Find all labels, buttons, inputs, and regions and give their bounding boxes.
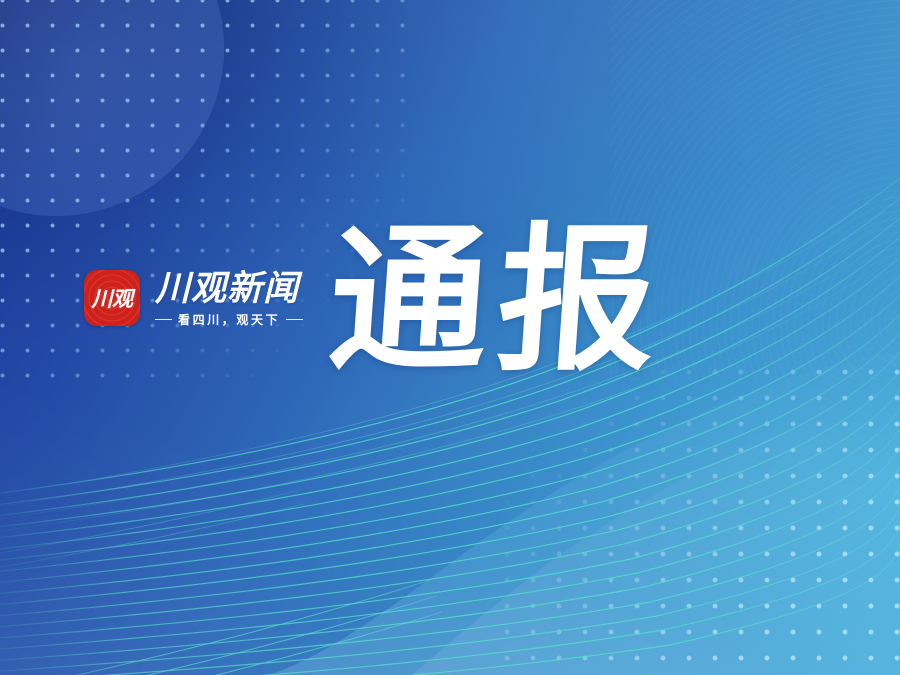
brand-lockup: 川观 川观新闻 看四川，观天下 <box>84 270 303 326</box>
banner-headline: 通报 <box>324 222 671 380</box>
brand-name: 川观新闻 <box>155 271 303 307</box>
brand-wordmark: 川观新闻 看四川，观天下 <box>155 270 303 326</box>
brand-mark-label: 川观 <box>84 270 140 326</box>
brand-tagline: 看四川，观天下 <box>155 314 303 326</box>
banner-content: 川观 川观新闻 看四川，观天下 通报 <box>0 0 900 675</box>
tagline-rule-left <box>155 319 172 320</box>
brand-tagline-text: 看四川，观天下 <box>178 314 280 326</box>
chuanguan-logo-icon: 川观 <box>84 270 140 326</box>
news-banner: 川观 川观新闻 看四川，观天下 通报 <box>0 0 900 675</box>
tagline-rule-right <box>286 319 303 320</box>
